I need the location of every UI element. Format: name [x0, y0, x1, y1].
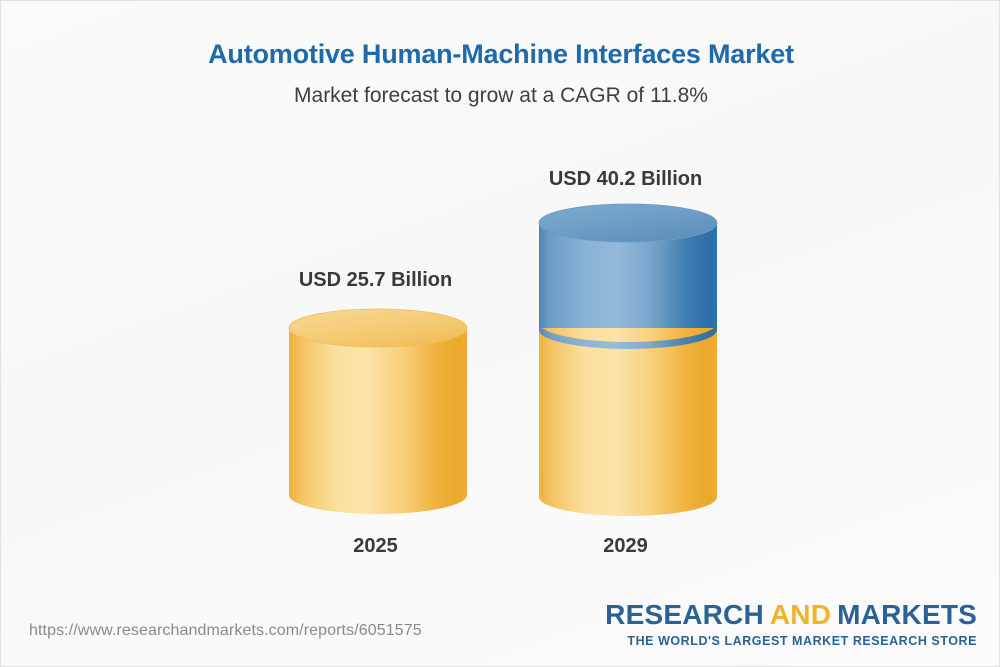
axis-label-2025: 2025	[289, 535, 462, 558]
axis-label-2029: 2029	[539, 535, 712, 558]
chart-canvas: Automotive Human-Machine Interfaces Mark…	[0, 0, 1000, 667]
logo-word-markets: MARKETS	[837, 599, 977, 630]
plot-area: USD 25.7 Billion USD 40.2 Billion 2025 2…	[1, 1, 1000, 667]
logo-tagline: THE WORLD'S LARGEST MARKET RESEARCH STOR…	[605, 635, 977, 648]
bar-2029-value-label: USD 40.2 Billion	[539, 168, 712, 191]
logo-word-research: RESEARCH	[605, 599, 764, 630]
research-and-markets-logo[interactable]: RESEARCHANDMARKETS THE WORLD'S LARGEST M…	[605, 601, 977, 648]
logo-word-and: AND	[770, 599, 831, 630]
report-url[interactable]: https://www.researchandmarkets.com/repor…	[29, 622, 422, 640]
bar-2029-cylinder[interactable]	[533, 197, 723, 527]
bar-2025-value-label: USD 25.7 Billion	[289, 269, 462, 292]
logo-wordmark: RESEARCHANDMARKETS	[605, 601, 977, 629]
bar-2025-cylinder[interactable]	[283, 302, 473, 528]
